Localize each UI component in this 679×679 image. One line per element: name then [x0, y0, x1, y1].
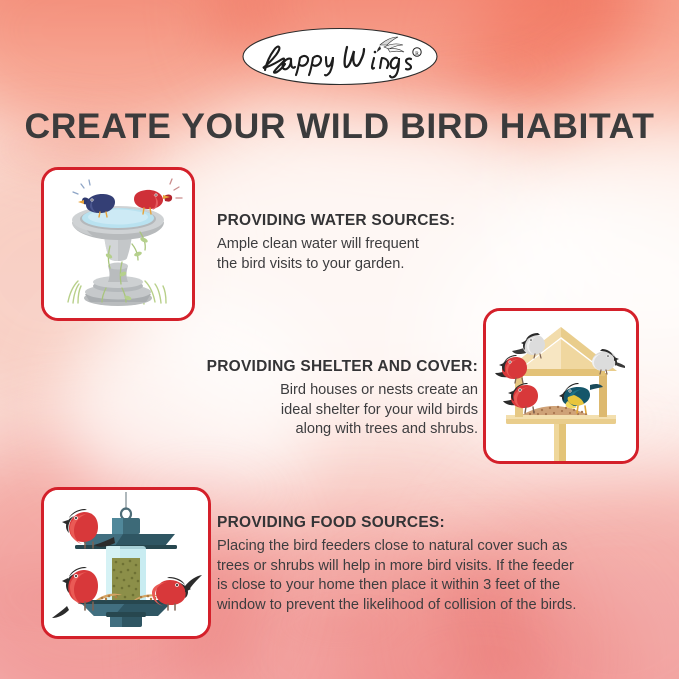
section-heading-food: PROVIDING FOOD SOURCES: [217, 514, 576, 532]
bird-bath-image [41, 167, 195, 321]
section-body-shelter: Bird houses or nests create an ideal she… [172, 381, 478, 440]
section-food: PROVIDING FOOD SOURCES: Placing the bird… [217, 514, 576, 615]
section-body-food: Placing the bird feeders close to natura… [217, 537, 576, 615]
brand-logo: R [241, 27, 439, 86]
section-heading-shelter: PROVIDING SHELTER AND COVER: [172, 358, 478, 376]
section-heading-water: PROVIDING WATER SOURCES: [217, 212, 455, 230]
section-body-water: Ample clean water will frequent the bird… [217, 235, 455, 274]
infographic-page: R CREATE YOUR WILD BIRD HABITAT [0, 0, 679, 679]
bird-house-image [483, 308, 639, 464]
section-water: PROVIDING WATER SOURCES: Ample clean wat… [217, 212, 455, 274]
section-shelter: PROVIDING SHELTER AND COVER: Bird houses… [172, 358, 478, 440]
svg-text:R: R [415, 51, 419, 57]
page-title: CREATE YOUR WILD BIRD HABITAT [0, 106, 679, 147]
hanging-feeder-image [41, 487, 211, 639]
